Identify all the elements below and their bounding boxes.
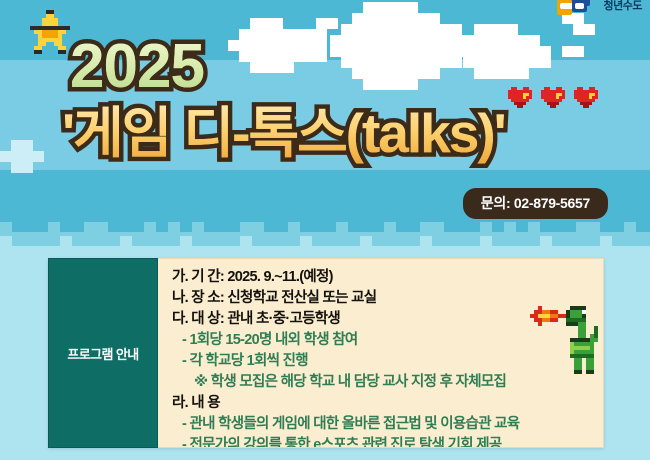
- year-text: 2025: [70, 36, 204, 98]
- heart-row: [508, 84, 600, 110]
- main-title: '게임 디-톡스(talks)': [62, 105, 505, 163]
- panel-line: 가. 기 간: 2025. 9.~11.(예정): [172, 267, 593, 288]
- panel-line: ※ 학생 모집은 해당 학교 내 담당 교사 지정 후 자체모집: [172, 372, 593, 393]
- brand-logo: 청년수도: [557, 0, 642, 18]
- panel-line: 라. 내 용: [172, 393, 593, 414]
- heart-icon: [541, 84, 567, 108]
- program-info-panel: 프로그램 안내 가. 기 간: 2025. 9.~11.(예정)나. 장 소: …: [48, 258, 604, 448]
- pixel-step-strip-lower: [0, 236, 650, 256]
- panel-line: - 전문가의 강의를 통한 e스포츠 관련 진로 탐색 기회 제공: [172, 435, 593, 448]
- city-logo-icon: [557, 0, 599, 16]
- panel-label: 프로그램 안내: [48, 258, 158, 448]
- contact-badge[interactable]: 문의: 02-879-5657: [463, 188, 608, 219]
- pixel-dragon-icon: [530, 302, 608, 374]
- heart-icon: [574, 84, 600, 108]
- heart-icon: [508, 84, 534, 108]
- brand-logo-text: 청년수도: [604, 0, 642, 13]
- poster-canvas: 청년수도 2025 2025 '게임 디-톡스(talks)' '게임 디-톡스…: [0, 0, 650, 460]
- panel-line: - 관내 학생들의 게임에 대한 올바른 접근법 및 이용습관 교육: [172, 414, 593, 435]
- star-icon: [30, 10, 72, 50]
